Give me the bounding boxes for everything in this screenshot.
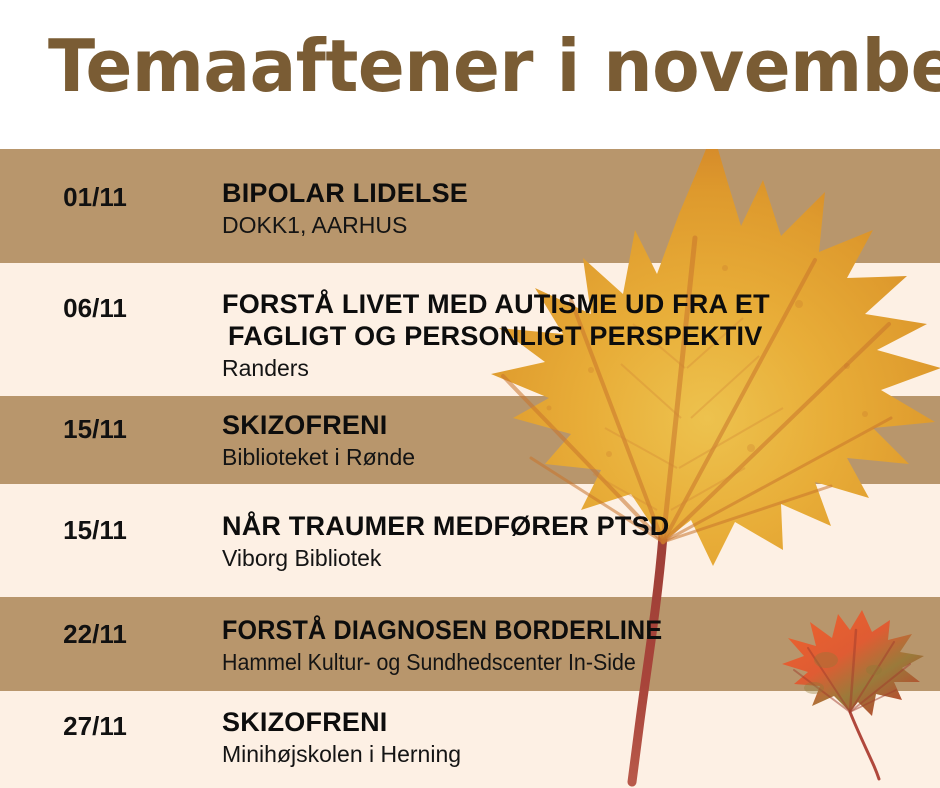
event-body: SKIZOFRENI Minihøjskolen i Herning [222,706,930,768]
event-title-line2: FAGLIGT OG PERSONLIGT PERSPEKTIV [222,320,930,352]
poster-canvas: Temaaftener i november 01/11 BIPOLAR LID… [0,0,940,788]
event-title: SKIZOFRENI [222,409,930,441]
event-venue: Hammel Kultur- og Sundhedscenter In-Side [222,648,880,676]
event-body: NÅR TRAUMER MEDFØRER PTSD Viborg Bibliot… [222,510,930,572]
event-date: 01/11 [0,182,190,212]
event-title: NÅR TRAUMER MEDFØRER PTSD [222,510,930,542]
event-title: FORSTÅ DIAGNOSEN BORDERLINE [222,614,880,646]
event-body: FORSTÅ LIVET MED AUTISME UD FRA ET FAGLI… [222,288,930,382]
event-venue: Viborg Bibliotek [222,544,930,572]
event-body: SKIZOFRENI Biblioteket i Rønde [222,409,930,471]
event-title: SKIZOFRENI [222,706,930,738]
event-title-line1: FORSTÅ LIVET MED AUTISME UD FRA ET [222,289,770,319]
event-venue: Biblioteket i Rønde [222,443,930,471]
event-title: FORSTÅ LIVET MED AUTISME UD FRA ET FAGLI… [222,288,930,352]
event-body: FORSTÅ DIAGNOSEN BORDERLINE Hammel Kultu… [222,614,930,676]
event-date: 15/11 [0,515,190,545]
event-date: 15/11 [0,414,190,444]
event-venue: Minihøjskolen i Herning [222,740,930,768]
event-venue: Randers [222,354,930,382]
event-date: 27/11 [0,711,190,741]
event-venue: DOKK1, AARHUS [222,211,930,239]
event-date: 06/11 [0,293,190,323]
event-date: 22/11 [0,619,190,649]
title-band: Temaaftener i november [0,0,940,149]
event-body: BIPOLAR LIDELSE DOKK1, AARHUS [222,177,930,239]
page-title: Temaaftener i november [48,26,940,106]
event-title: BIPOLAR LIDELSE [222,177,930,209]
